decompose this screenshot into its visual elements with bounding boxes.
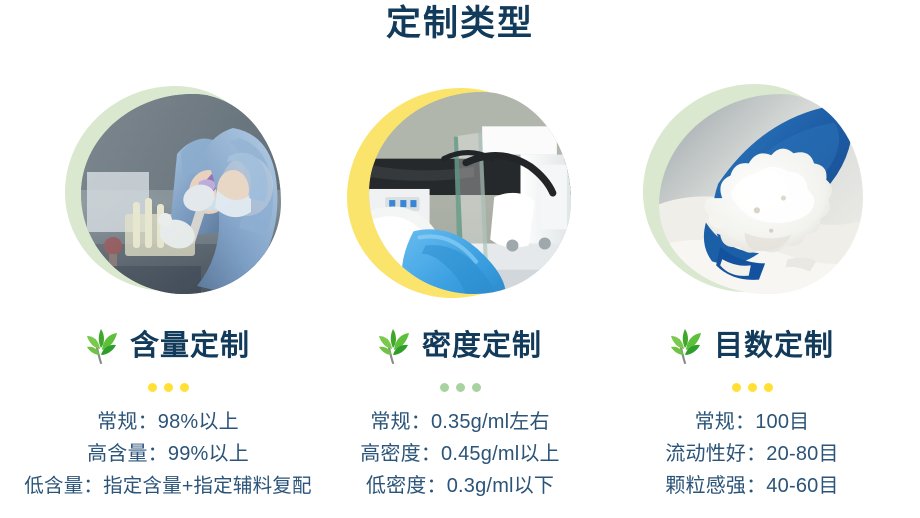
photo-gloved-hand: [369, 92, 571, 294]
spec-line: 高密度：0.45g/ml以上: [360, 440, 560, 469]
card-heading-content: 含量定制: [86, 324, 250, 368]
photo-lab-technician: [81, 94, 281, 294]
spec-line: 常规：98%以上: [97, 408, 239, 437]
dot: [440, 383, 449, 392]
spec-line: 低含量：指定含量+指定辅料复配: [24, 472, 311, 501]
spec-line: 常规：0.35g/ml左右: [370, 408, 549, 437]
customization-type-columns: 含量定制 常规：98%以上 高含量：99%以上 低含量：指定含量+指定辅料复配: [0, 72, 920, 518]
sprout-leaf-icon: [86, 328, 120, 364]
spec-line: 颗粒感强：40-60目: [665, 472, 838, 501]
customization-card-content: 含量定制 常规：98%以上 高含量：99%以上 低含量：指定含量+指定辅料复配: [22, 72, 314, 501]
photo-container-mesh: [629, 72, 875, 302]
dot: [764, 383, 773, 392]
spec-list-mesh: 常规：100目 流动性好：20-80目 颗粒感强：40-60目: [606, 408, 898, 501]
dots-separator-density: [440, 383, 481, 392]
customization-card-density: 密度定制 常规：0.35g/ml左右 高密度：0.45g/ml以上 低密度：0.…: [314, 72, 606, 501]
dots-separator-content: [148, 383, 189, 392]
spec-line: 流动性好：20-80目: [665, 440, 838, 469]
card-title-content: 含量定制: [130, 328, 250, 364]
dot: [164, 383, 173, 392]
sprout-leaf-icon: [670, 328, 704, 364]
dot: [180, 383, 189, 392]
dots-separator-mesh: [732, 383, 773, 392]
spec-line: 常规：100目: [695, 408, 810, 437]
card-title-mesh: 目数定制: [714, 328, 834, 364]
spec-line: 低密度：0.3g/ml以下: [366, 472, 554, 501]
card-heading-density: 密度定制: [378, 324, 542, 368]
spec-list-density: 常规：0.35g/ml左右 高密度：0.45g/ml以上 低密度：0.3g/ml…: [314, 408, 606, 501]
photo-container-density: [337, 72, 583, 302]
spec-line: 高含量：99%以上: [87, 440, 249, 469]
dot: [472, 383, 481, 392]
dot: [148, 383, 157, 392]
card-title-density: 密度定制: [422, 328, 542, 364]
spec-list-content: 常规：98%以上 高含量：99%以上 低含量：指定含量+指定辅料复配: [22, 408, 314, 501]
dot: [732, 383, 741, 392]
dot: [456, 383, 465, 392]
page-title: 定制类型: [0, 2, 920, 46]
customization-card-mesh: 目数定制 常规：100目 流动性好：20-80目 颗粒感强：40-60目: [606, 72, 898, 501]
sprout-leaf-icon: [378, 328, 412, 364]
dot: [748, 383, 757, 392]
photo-container-content: [45, 72, 291, 302]
card-heading-mesh: 目数定制: [670, 324, 834, 368]
